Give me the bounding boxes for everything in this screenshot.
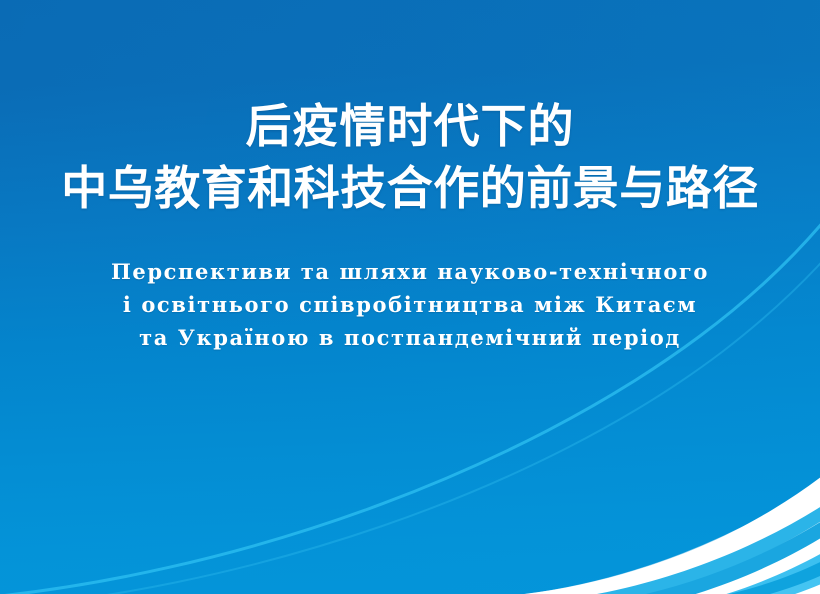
subtitle-block: Перспективи та шляхи науково-технічного … — [0, 255, 820, 354]
title-line-2: 中乌教育和科技合作的前景与路径 — [0, 157, 820, 219]
title-line-1: 后疫情时代下的 — [0, 95, 820, 157]
subtitle-line-3: та Україною в постпандемічний період — [0, 321, 820, 354]
subtitle-line-2: і освітнього співробітництва між Китаєм — [0, 288, 820, 321]
title-block: 后疫情时代下的 中乌教育和科技合作的前景与路径 — [0, 95, 820, 219]
subtitle-line-1: Перспективи та шляхи науково-технічного — [0, 255, 820, 288]
title-slide: 后疫情时代下的 中乌教育和科技合作的前景与路径 Перспективи та ш… — [0, 0, 820, 594]
